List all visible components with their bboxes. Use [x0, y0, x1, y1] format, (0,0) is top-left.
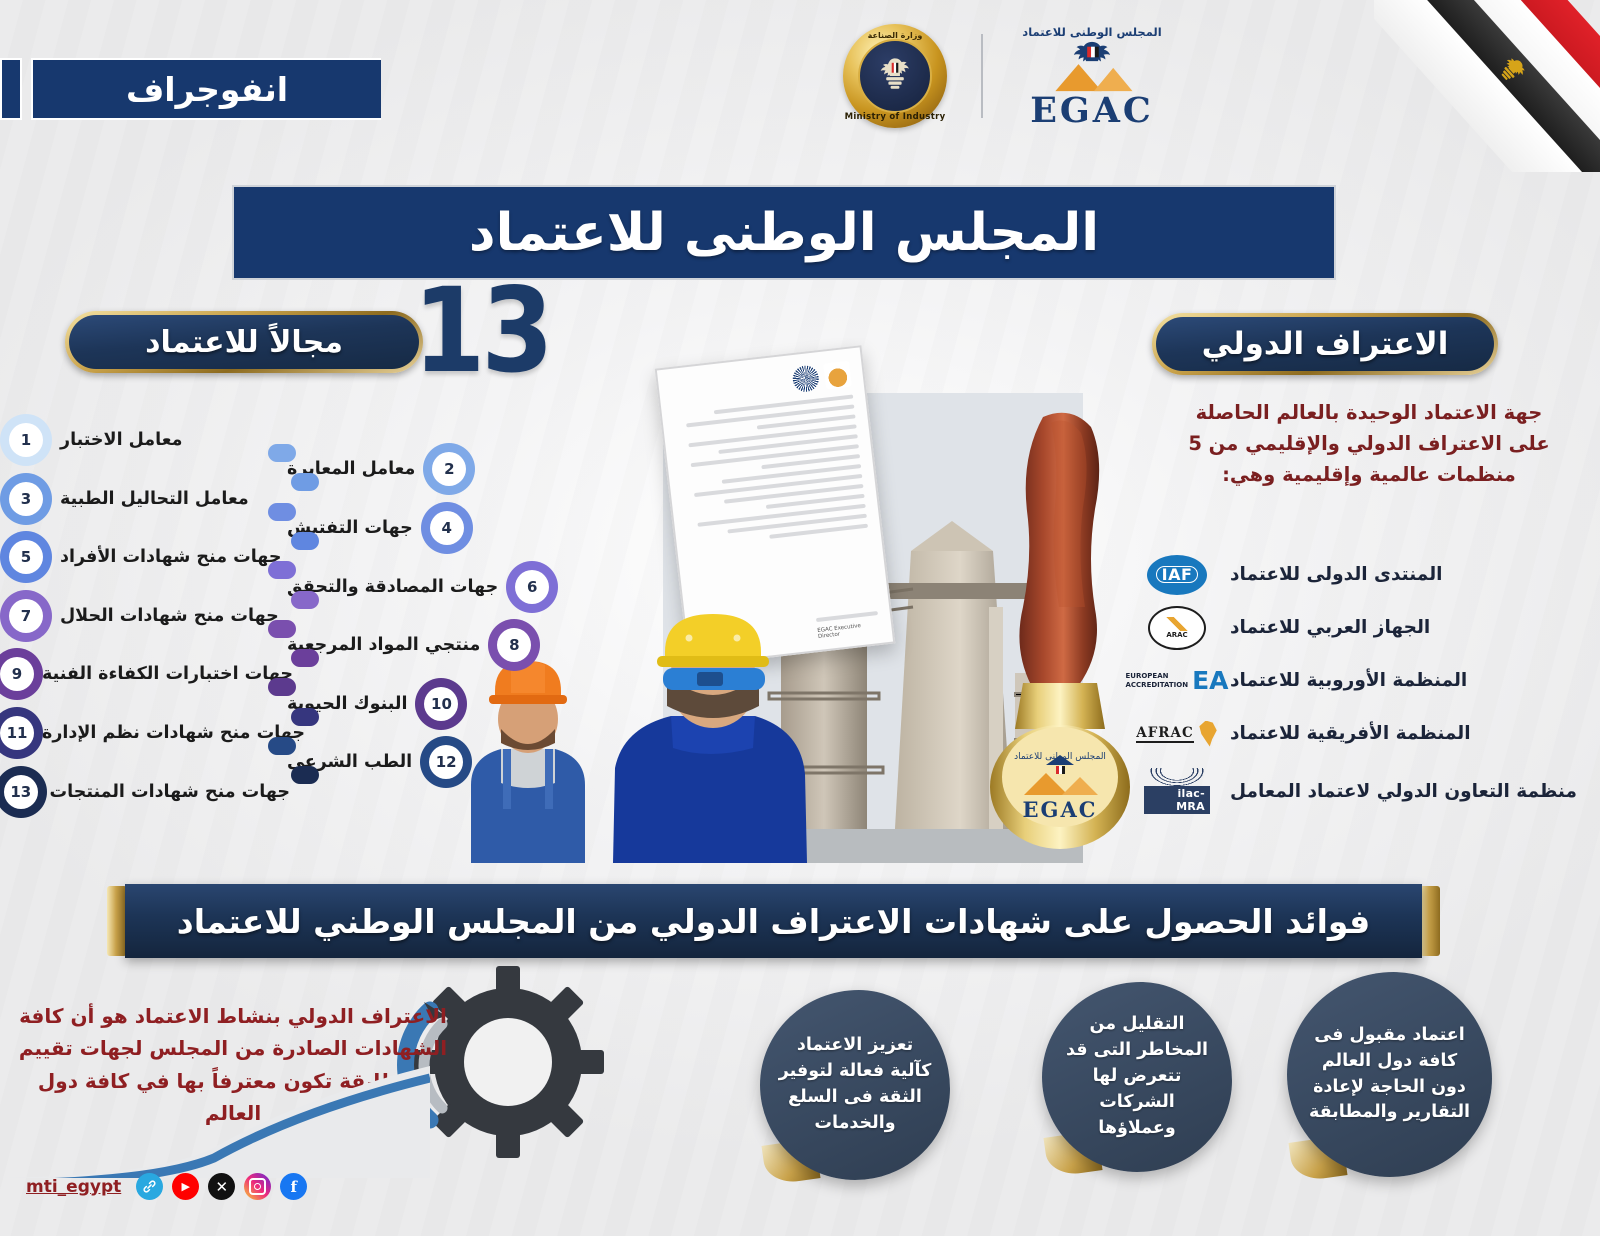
- scope-count-label: مجالاً للاعتماد: [145, 325, 343, 360]
- scope-number: 7: [9, 599, 43, 633]
- worker-orange-hard-hat-photo: [453, 633, 603, 863]
- scope-label: معامل التحاليل الطبية: [60, 489, 249, 509]
- egac-wooden-brass-stamp: المجلس الوطنى للاعتماد EGAC: [959, 399, 1143, 863]
- recognition-organizations-list: المنتدى الدولى للاعتماد IAF الجهاز العرب…: [1138, 548, 1588, 822]
- infograph-tick: [0, 58, 22, 120]
- banner-cap-left: [107, 886, 127, 956]
- egac-arabic-arc: المجلس الوطنى للاعتماد: [1017, 25, 1167, 39]
- scope-number: 1: [9, 423, 43, 457]
- scope-number: 11: [0, 716, 34, 750]
- scope-connector: [291, 473, 319, 491]
- certificate-signature: EGAC Executive Director: [817, 621, 880, 640]
- scope-connector: [268, 737, 296, 755]
- scope-item-3: معامل التحاليل الطبية3: [0, 477, 290, 521]
- org-row: منظمة التعاون الدولي لاعتماد المعامل ila…: [1138, 760, 1588, 822]
- africa-map-icon: [1198, 721, 1218, 747]
- scope-connector: [291, 766, 319, 784]
- accreditation-note: الاعتراف الدولي بنشاط الاعتماد هو أن كاف…: [18, 1000, 448, 1130]
- scope-node: 3: [0, 473, 52, 525]
- egac-pyramids-eagle-logo: [1017, 39, 1167, 93]
- scope-connector: [291, 708, 319, 726]
- egac-small-logo-icon: [823, 361, 852, 390]
- ministry-of-industry-gold-seal: وزارة الصناعة Ministry of Industry: [843, 24, 947, 128]
- instagram-icon[interactable]: [244, 1173, 271, 1200]
- scope-node: 11: [0, 707, 34, 759]
- facebook-icon[interactable]: f: [280, 1173, 307, 1200]
- org-row: المنتدى الدولى للاعتماد IAF: [1138, 548, 1588, 601]
- scope-number: 13: [4, 775, 38, 809]
- infographic-page: انفوجراف المجلس الوطنى للاعتماد EGAC: [0, 0, 1600, 1236]
- international-intro-text: جهة الاعتماد الوحيدة بالعالم الحاصلة على…: [1174, 398, 1564, 490]
- iaf-logo-text: IAF: [1156, 566, 1199, 583]
- scope-item-7: جهات منح شهادات الحلال7: [0, 594, 290, 638]
- org-name: المنظمة الأفريقية للاعتماد: [1230, 723, 1588, 744]
- banner-cap-right: [1420, 886, 1440, 956]
- org-row: المنظمة الأفريقية للاعتماد AFRAC: [1138, 707, 1588, 760]
- eagle-emblem-icon: [873, 54, 917, 98]
- scope-item-6: 6جهات المصادقة والتحقق: [287, 565, 558, 609]
- benefits-banner: فوائد الحصول على شهادات الاعتراف الدولي …: [107, 884, 1440, 958]
- scope-connector: [268, 678, 296, 696]
- scope-connector: [268, 620, 296, 638]
- benefit-bubble-text: اعتماد مقبول فى كافة دول العالم دون الحا…: [1287, 1023, 1492, 1127]
- x-glyph: ✕: [215, 1178, 228, 1196]
- scope-node: 6: [506, 561, 558, 613]
- scope-connector: [268, 444, 296, 462]
- accreditation-seal-icon: [791, 364, 820, 393]
- ea-logo-text: EA: [1192, 668, 1228, 693]
- page-title: المجلس الوطنى للاعتماد: [232, 185, 1336, 280]
- seal-english-text: Ministry of Industry: [843, 112, 947, 122]
- benefit-bubble-text: التقليل من المخاطر التى قد تتعرض لها الش…: [1042, 1012, 1232, 1141]
- scope-node: 9: [0, 648, 34, 700]
- ilac-mra-logo: ilac-MRA: [1138, 768, 1216, 814]
- scope-item-5: جهات منح شهادات الأفراد5: [0, 535, 290, 579]
- benefit-bubble: التقليل من المخاطر التى قد تتعرض لها الش…: [1042, 982, 1232, 1172]
- scope-label: معامل الاختبار: [60, 430, 182, 450]
- egac-wordmark: EGAC: [1017, 93, 1167, 128]
- benefit-bubble: تعزيز الاعتماد كآلية فعالة لتوفير الثقة …: [760, 990, 950, 1180]
- scope-number: 3: [9, 482, 43, 516]
- ea-logo-subtext: EUROPEAN ACCREDITATION: [1125, 672, 1188, 688]
- seal-inner-emblem: [858, 39, 932, 113]
- scope-node: 4: [421, 502, 473, 554]
- infograph-badge: انفوجراف: [0, 58, 381, 120]
- arac-logo: ARAC: [1138, 605, 1216, 651]
- international-recognition-pill: الاعتراف الدولي: [1152, 313, 1498, 375]
- org-name: المنتدى الدولى للاعتماد: [1230, 564, 1588, 585]
- worker-yellow-hard-hat-photo: [593, 598, 823, 863]
- youtube-glyph: ▶: [182, 1180, 190, 1193]
- scope-number: 10: [424, 687, 458, 721]
- scope-label: جهات منح شهادات المنتجات: [50, 782, 290, 802]
- benefit-bubble-text: تعزيز الاعتماد كآلية فعالة لتوفير الثقة …: [760, 1033, 950, 1137]
- x-twitter-icon[interactable]: ✕: [208, 1173, 235, 1200]
- youtube-icon[interactable]: ▶: [172, 1173, 199, 1200]
- scope-label: جهات اختبارات الكفاءة الفنية: [42, 664, 293, 684]
- link-icon[interactable]: [136, 1173, 163, 1200]
- scope-item-13: جهات منح شهادات المنتجات13: [0, 770, 290, 814]
- logo-row: المجلس الوطنى للاعتماد EGAC وزارة الصنا: [843, 24, 1167, 128]
- scope-item-1: معامل الاختبار1: [0, 418, 290, 462]
- scope-node: 13: [0, 766, 42, 818]
- page-title-text: المجلس الوطنى للاعتماد: [469, 203, 1099, 263]
- scope-node: 5: [0, 531, 52, 583]
- egypt-flag-corner-ribbon: [1374, 0, 1600, 172]
- afrac-logo-text: AFRAC: [1136, 725, 1194, 743]
- scope-label: جهات منح شهادات نظم الإدارة: [42, 723, 305, 743]
- infograph-label: انفوجراف: [31, 58, 381, 120]
- scope-number: 4: [430, 511, 464, 545]
- arac-logo-text: ARAC: [1166, 631, 1187, 639]
- ilac-logo-text: ilac-MRA: [1144, 786, 1210, 814]
- scope-connector: [291, 532, 319, 550]
- social-handle[interactable]: mti_egypt: [26, 1177, 121, 1197]
- scope-connector: [291, 649, 319, 667]
- org-name: الجهاز العربي للاعتماد: [1230, 617, 1588, 638]
- org-row: المنظمة الأوروبية للاعتماد EA EUROPEAN A…: [1138, 654, 1588, 707]
- afrac-logo: AFRAC: [1138, 711, 1216, 757]
- logo-divider: [981, 34, 983, 118]
- scope-node: 10: [415, 678, 467, 730]
- scope-connector: [291, 591, 319, 609]
- scope-label: جهات منح شهادات الحلال: [60, 606, 279, 626]
- scope-node: 1: [0, 414, 52, 466]
- egac-logo: المجلس الوطنى للاعتماد EGAC: [1017, 25, 1167, 128]
- scope-count-pill: مجالاً للاعتماد: [65, 311, 423, 373]
- scope-connector: [268, 503, 296, 521]
- org-row: الجهاز العربي للاعتماد ARAC: [1138, 601, 1588, 654]
- scope-number: 6: [515, 570, 549, 604]
- org-name: المنظمة الأوروبية للاعتماد: [1230, 670, 1588, 691]
- scope-item-9: جهات اختبارات الكفاءة الفنية9: [0, 652, 290, 696]
- facebook-glyph: f: [291, 1178, 297, 1196]
- scope-item-11: جهات منح شهادات نظم الإدارة11: [0, 711, 290, 755]
- benefits-banner-text: فوائد الحصول على شهادات الاعتراف الدولي …: [177, 902, 1370, 941]
- org-name: منظمة التعاون الدولي لاعتماد المعامل: [1230, 781, 1588, 802]
- scope-node: 7: [0, 590, 52, 642]
- benefit-bubble: اعتماد مقبول فى كافة دول العالم دون الحا…: [1287, 972, 1492, 1177]
- iaf-logo: IAF: [1138, 552, 1216, 598]
- social-links: f ✕ ▶ mti_egypt: [26, 1173, 307, 1200]
- international-recognition-label: الاعتراف الدولي: [1202, 326, 1449, 362]
- svg-text:EGAC: EGAC: [1023, 797, 1098, 822]
- scope-label: جهات منح شهادات الأفراد: [60, 547, 281, 567]
- scope-number: 5: [9, 540, 43, 574]
- scope-connector: [268, 561, 296, 579]
- scope-item-8: 8منتجي المواد المرجعية: [287, 623, 540, 667]
- ea-logo: EA EUROPEAN ACCREDITATION: [1138, 658, 1216, 704]
